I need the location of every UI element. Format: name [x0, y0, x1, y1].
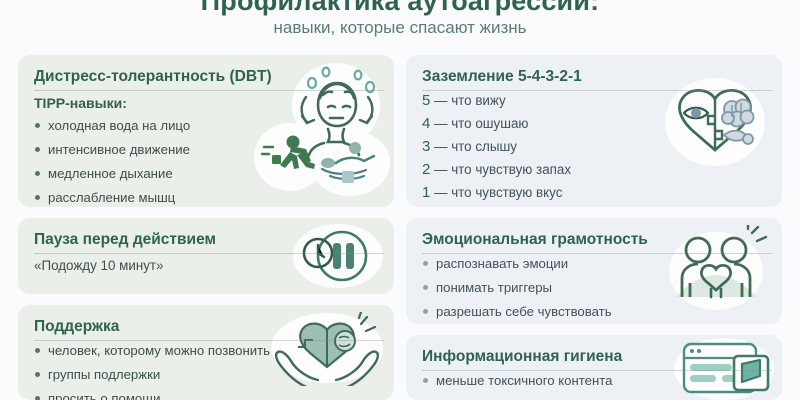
list-item: распознавать эмоции [422, 256, 768, 271]
cards-container: Дистресс-толерантность (DBT) TIPP-навыки… [0, 55, 800, 400]
list-item: расслабление мышц [34, 190, 380, 205]
step-number: 2 [422, 161, 430, 178]
list-item: 1 — что чувствую вкус [422, 185, 768, 200]
card-title: Пауза перед действием [34, 230, 380, 249]
card-information-hygiene: Информационная гигиена меньше токсичного… [406, 335, 782, 400]
step-number: 1 [422, 184, 430, 201]
card-grounding: Заземление 5-4-3-2-1 5 — что вижу 4 — чт… [406, 55, 782, 207]
card-emotional-literacy: Эмоциональная грамотность распознавать э… [406, 218, 782, 324]
step-text: — что чувствую запах [434, 162, 571, 177]
infographic-page: Профилактика аутоагрессии: навыки, котор… [0, 0, 800, 400]
card-support: Поддержка человек, которому можно позвон… [18, 305, 394, 400]
list-item: интенсивное движение [34, 142, 380, 157]
information-hygiene-list: меньше токсичного контента [422, 373, 768, 388]
card-pause-before-action: Пауза перед действием «Подожду 10 минут» [18, 218, 394, 294]
grounding-steps-list: 5 — что вижу 4 — что ошушаю 3 — что слыш… [422, 93, 768, 200]
list-item: человек, которому можно позвонить [34, 343, 380, 358]
step-number: 4 [422, 115, 430, 132]
support-list: человек, которому можно позвонить группы… [34, 343, 380, 400]
left-column: Дистресс-толерантность (DBT) TIPP-навыки… [18, 55, 394, 400]
step-number: 3 [422, 138, 430, 155]
list-item: 2 — что чувствую запах [422, 162, 768, 177]
tipp-skills-list: холодная вода на лицо интенсивное движен… [34, 118, 380, 205]
list-item: понимать триггеры [422, 280, 768, 295]
list-item: 5 — что вижу [422, 93, 768, 108]
step-number: 5 [422, 92, 430, 109]
page-subtitle: навыки, которые спасают жизнь [0, 18, 800, 38]
list-item: 4 — что ошушаю [422, 116, 768, 131]
list-item: разрешать себе чувствовать [422, 304, 768, 319]
card-title: Заземление 5-4-3-2-1 [422, 67, 768, 86]
card-distress-tolerance: Дистресс-толерантность (DBT) TIPP-навыки… [18, 55, 394, 207]
step-text: — что вижу [434, 93, 506, 108]
card-subtitle: TIPP-навыки: [34, 95, 380, 112]
list-item: группы подлержки [34, 367, 380, 382]
list-item: просить о помощи [34, 391, 380, 400]
card-title: Дистресс-толерантность (DBT) [34, 67, 380, 86]
card-title: Информационная гигиена [422, 347, 768, 366]
emotional-literacy-list: распознавать эмоции понимать триггеры ра… [422, 256, 768, 319]
card-title: Поддержка [34, 317, 380, 336]
right-column: Заземление 5-4-3-2-1 5 — что вижу 4 — чт… [406, 55, 782, 400]
step-text: — что ошушаю [434, 116, 528, 131]
card-title: Эмоциональная грамотность [422, 230, 768, 249]
step-text: — что чувствую вкус [434, 185, 562, 200]
card-quote: «Подожду 10 минут» [34, 258, 380, 274]
list-item: меньше токсичного контента [422, 373, 768, 388]
step-text: — что слышу [434, 139, 517, 154]
header: Профилактика аутоагрессии: навыки, котор… [0, 0, 800, 48]
list-item: медленное дыхание [34, 166, 380, 181]
list-item: холодная вода на лицо [34, 118, 380, 133]
page-title: Профилактика аутоагрессии: [0, 0, 800, 15]
list-item: 3 — что слышу [422, 139, 768, 154]
